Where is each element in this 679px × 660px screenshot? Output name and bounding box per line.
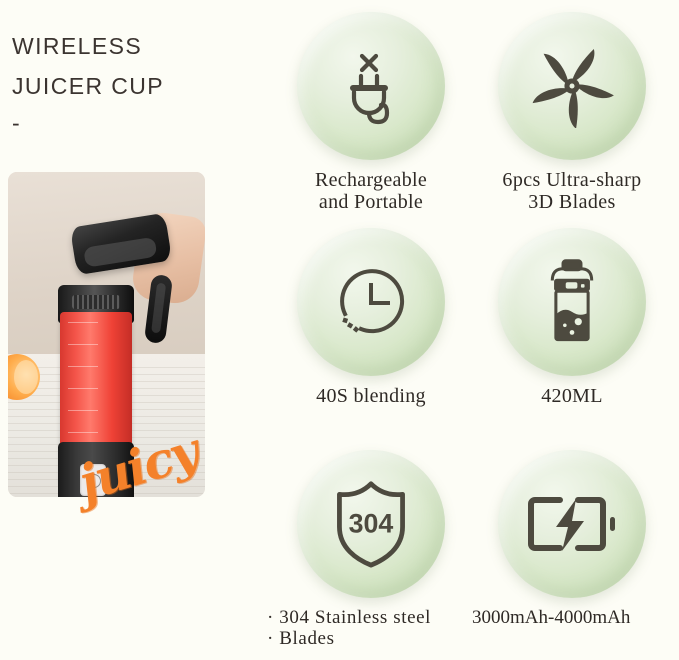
- feature-label-line1: 40S blending: [271, 385, 471, 407]
- feature-icon-badge: [297, 12, 445, 160]
- feature-grid: Rechargeable and Portable: [265, 0, 679, 660]
- feature-label-line1: · 304 Stainless steel: [267, 607, 471, 628]
- feature-label-line1: 3000mAh-4000mAh: [472, 607, 672, 628]
- title-line-1: WIRELESS: [12, 26, 252, 66]
- feature-icon-badge: 304: [297, 450, 445, 598]
- title-dash: -: [12, 106, 252, 140]
- feature-label-line2: and Portable: [271, 191, 471, 213]
- collar-threads: [72, 295, 120, 309]
- shield-icon-text: 304: [349, 509, 394, 539]
- feature-icon-badge: [498, 228, 646, 376]
- feature-capacity[interactable]: 420ML: [472, 228, 672, 407]
- feature-label-line2: · Blades: [267, 628, 471, 649]
- page-title: WIRELESS JUICER CUP -: [12, 26, 252, 140]
- lid-inner-ring: [83, 237, 157, 268]
- feature-icon-badge: [498, 450, 646, 598]
- feature-label-line1: 420ML: [472, 385, 672, 407]
- shield-304-icon: 304: [330, 480, 412, 568]
- product-infographic: WIRELESS JUICER CUP - juicy: [0, 0, 679, 660]
- feature-label-line1: Rechargeable: [271, 169, 471, 191]
- feature-label: · 304 Stainless steel · Blades: [267, 607, 471, 649]
- plug-crossed-icon: [332, 47, 410, 125]
- feature-label: 420ML: [472, 385, 672, 407]
- blades-icon: [530, 44, 614, 128]
- feature-label: 3000mAh-4000mAh: [472, 607, 672, 628]
- feature-icon-badge: [498, 12, 646, 160]
- title-line-2: JUICER CUP: [12, 66, 252, 106]
- feature-label: 6pcs Ultra-sharp 3D Blades: [472, 169, 672, 213]
- feature-label: Rechargeable and Portable: [271, 169, 471, 213]
- feature-rechargeable[interactable]: Rechargeable and Portable: [271, 12, 471, 213]
- feature-icon-badge: [297, 228, 445, 376]
- feature-label: 40S blending: [271, 385, 471, 407]
- bottle-icon: [534, 259, 610, 345]
- feature-stainless-steel[interactable]: 304 · 304 Stainless steel · Blades: [271, 450, 471, 649]
- clock-icon: [331, 262, 411, 342]
- feature-blades[interactable]: 6pcs Ultra-sharp 3D Blades: [472, 12, 672, 213]
- feature-label-line1: 6pcs Ultra-sharp: [472, 169, 672, 191]
- battery-charge-icon: [526, 495, 618, 553]
- feature-battery[interactable]: 3000mAh-4000mAh: [472, 450, 672, 628]
- feature-blending-time[interactable]: 40S blending: [271, 228, 471, 407]
- feature-label-line2: 3D Blades: [472, 191, 672, 213]
